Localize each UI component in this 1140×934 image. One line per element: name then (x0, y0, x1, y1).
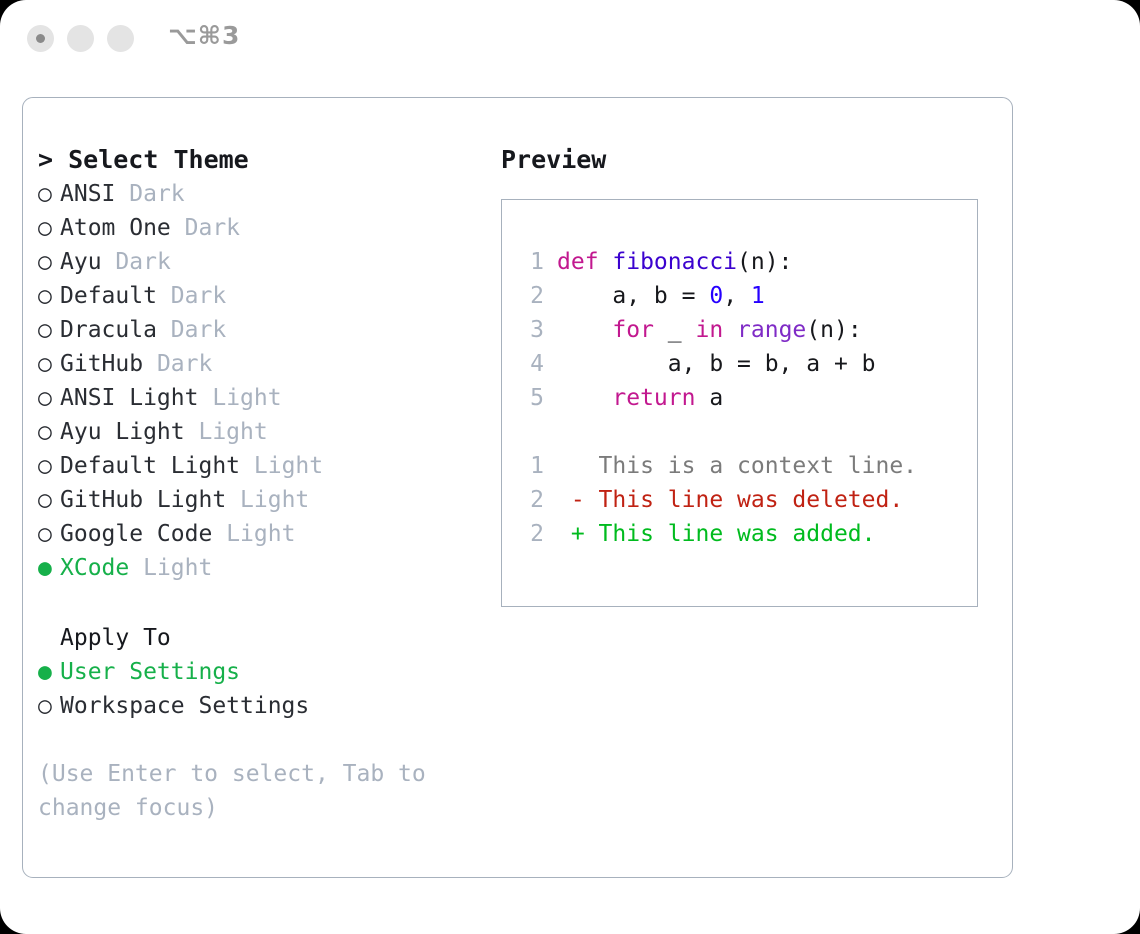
code-token: def (557, 249, 612, 275)
theme-name-label: GitHub Light (60, 487, 226, 513)
line-number: 3 (516, 313, 544, 347)
app-window: ⌥⌘3 > Select Theme ○ANSI Dark○Atom One D… (0, 0, 1140, 934)
spacer (198, 385, 212, 411)
code-token (557, 317, 612, 343)
radio-unselected-icon: ○ (38, 689, 60, 723)
theme-list-item[interactable]: ○ANSI Dark (38, 177, 488, 211)
line-number: 2 (516, 279, 544, 313)
theme-list: ○ANSI Dark○Atom One Dark○Ayu Dark○Defaul… (38, 177, 488, 585)
theme-list-item[interactable]: ○Dracula Dark (38, 313, 488, 347)
spacer (157, 317, 171, 343)
preview-heading: Preview (501, 143, 1001, 177)
diff-line: 2 - This line was deleted. (516, 483, 976, 517)
theme-name-label: Default Light (60, 453, 240, 479)
theme-kind-label: Light (143, 555, 212, 581)
radio-unselected-icon: ○ (38, 313, 60, 347)
line-number: 5 (516, 381, 544, 415)
code-token: _ (654, 317, 696, 343)
apply-to-option[interactable]: ○Workspace Settings (38, 689, 488, 723)
code-token: (n): (737, 249, 792, 275)
theme-name-label: Google Code (60, 521, 212, 547)
code-token: + This line was added. (557, 521, 876, 547)
spacer (185, 419, 199, 445)
radio-unselected-icon: ○ (38, 347, 60, 381)
spacer (143, 351, 157, 377)
theme-kind-label: Dark (115, 249, 170, 275)
code-token: 0 (709, 283, 723, 309)
theme-list-item[interactable]: ○GitHub Light Light (38, 483, 488, 517)
theme-name-label: XCode (60, 555, 129, 581)
theme-name-label: Atom One (60, 215, 171, 241)
theme-list-item[interactable]: ○ANSI Light Light (38, 381, 488, 415)
spacer (171, 215, 185, 241)
radio-unselected-icon: ○ (38, 449, 60, 483)
theme-name-label: Default (60, 283, 157, 309)
theme-picker-column: > Select Theme ○ANSI Dark○Atom One Dark○… (38, 143, 488, 825)
theme-list-item[interactable]: ●XCode Light (38, 551, 488, 585)
main-panel: > Select Theme ○ANSI Dark○Atom One Dark○… (22, 97, 1013, 878)
theme-name-label: Ayu Light (60, 419, 185, 445)
radio-unselected-icon: ○ (38, 517, 60, 551)
theme-kind-label: Light (198, 419, 267, 445)
line-number: 2 (516, 517, 544, 551)
code-token: range (737, 317, 806, 343)
theme-kind-label: Dark (129, 181, 184, 207)
keyboard-hint-text: (Use Enter to select, Tab to change focu… (38, 757, 453, 825)
theme-name-label: ANSI Light (60, 385, 198, 411)
code-token: in (695, 317, 723, 343)
theme-kind-label: Light (254, 453, 323, 479)
code-line: 1def fibonacci(n): (516, 245, 976, 279)
theme-kind-label: Light (226, 521, 295, 547)
radio-unselected-icon: ○ (38, 483, 60, 517)
line-number: 1 (516, 245, 544, 279)
code-token: return (612, 385, 695, 411)
spacer (115, 181, 129, 207)
theme-kind-label: Light (212, 385, 281, 411)
theme-name-label: ANSI (60, 181, 115, 207)
code-token: , (723, 283, 751, 309)
radio-unselected-icon: ○ (38, 381, 60, 415)
line-number: 1 (516, 449, 544, 483)
preview-box: 1def fibonacci(n):2 a, b = 0, 13 for _ i… (501, 199, 978, 607)
select-theme-heading: > Select Theme (38, 143, 488, 177)
radio-unselected-icon: ○ (38, 415, 60, 449)
apply-to-option[interactable]: ●User Settings (38, 655, 488, 689)
line-number: 4 (516, 347, 544, 381)
apply-to-option-label: User Settings (60, 659, 240, 685)
spacer (226, 487, 240, 513)
window-titlebar: ⌥⌘3 (0, 0, 1140, 82)
spacer (240, 453, 254, 479)
code-diff-spacer (516, 415, 976, 449)
diff-line: 1 This is a context line. (516, 449, 976, 483)
spacer (212, 521, 226, 547)
theme-list-item[interactable]: ○Ayu Dark (38, 245, 488, 279)
code-preview-area: 1def fibonacci(n):2 a, b = 0, 13 for _ i… (516, 245, 976, 551)
preview-column: Preview 1def fibonacci(n):2 a, b = 0, 13… (501, 143, 1001, 607)
window-dot-2[interactable] (67, 25, 94, 52)
spacer (157, 283, 171, 309)
code-token (723, 317, 737, 343)
code-token: a (695, 385, 723, 411)
apply-to-option-label: Workspace Settings (60, 693, 309, 719)
theme-kind-label: Dark (157, 351, 212, 377)
theme-list-item[interactable]: ○GitHub Dark (38, 347, 488, 381)
code-token: - This line was deleted. (557, 487, 903, 513)
code-token: a, b = b, a + b (557, 351, 876, 377)
code-token: This is a context line. (557, 453, 917, 479)
code-line: 5 return a (516, 381, 976, 415)
code-line: 2 a, b = 0, 1 (516, 279, 976, 313)
code-token: (n): (806, 317, 861, 343)
apply-to-section: Apply To ●User Settings○Workspace Settin… (38, 621, 488, 723)
line-number: 2 (516, 483, 544, 517)
theme-list-item[interactable]: ○Google Code Light (38, 517, 488, 551)
theme-list-item[interactable]: ○Ayu Light Light (38, 415, 488, 449)
window-dot-3[interactable] (107, 25, 134, 52)
theme-name-label: Ayu (60, 249, 102, 275)
theme-kind-label: Dark (171, 317, 226, 343)
radio-unselected-icon: ○ (38, 211, 60, 245)
spacer (102, 249, 116, 275)
window-dot-active-inner (36, 34, 45, 43)
radio-unselected-icon: ○ (38, 245, 60, 279)
window-dot-active[interactable] (27, 25, 54, 52)
radio-selected-icon: ● (38, 655, 60, 689)
theme-name-label: GitHub (60, 351, 143, 377)
theme-kind-label: Dark (185, 215, 240, 241)
code-token: 1 (751, 283, 765, 309)
code-token: for (612, 317, 654, 343)
theme-list-item[interactable]: ○Default Light Light (38, 449, 488, 483)
theme-list-item[interactable]: ○Atom One Dark (38, 211, 488, 245)
code-line: 3 for _ in range(n): (516, 313, 976, 347)
apply-to-heading: Apply To (38, 621, 488, 655)
code-line: 4 a, b = b, a + b (516, 347, 976, 381)
theme-list-item[interactable]: ○Default Dark (38, 279, 488, 313)
code-token: a, b = (557, 283, 709, 309)
code-token (557, 385, 612, 411)
theme-kind-label: Light (240, 487, 309, 513)
radio-unselected-icon: ○ (38, 177, 60, 211)
radio-unselected-icon: ○ (38, 279, 60, 313)
diff-line: 2 + This line was added. (516, 517, 976, 551)
apply-to-list: ●User Settings○Workspace Settings (38, 655, 488, 723)
keyboard-shortcut-label: ⌥⌘3 (168, 21, 240, 50)
spacer (129, 555, 143, 581)
theme-kind-label: Dark (171, 283, 226, 309)
radio-selected-icon: ● (38, 551, 60, 585)
theme-name-label: Dracula (60, 317, 157, 343)
code-token: fibonacci (612, 249, 737, 275)
